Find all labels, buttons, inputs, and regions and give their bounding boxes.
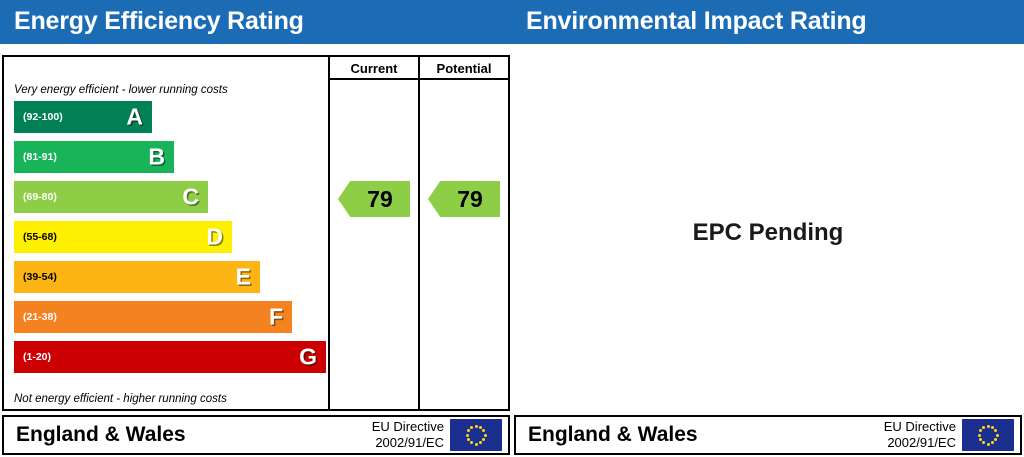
footer-region-left: England & Wales — [16, 423, 186, 447]
column-divider-current — [328, 57, 330, 409]
column-divider-potential — [418, 57, 420, 409]
rating-band-d: (55-68) D — [14, 221, 232, 253]
potential-rating-value: 79 — [445, 186, 483, 213]
header-row-divider — [328, 78, 508, 80]
eu-flag-icon — [450, 419, 502, 451]
rating-band-g-letter: G — [299, 346, 317, 369]
rating-band-b: (81-91) B — [14, 141, 174, 173]
rating-band-a-letter: A — [126, 106, 143, 129]
footer-directive-left-line2: 2002/91/EC — [372, 435, 444, 451]
rating-band-d-range: (55-68) — [23, 231, 57, 243]
rating-band-c: (69-80) C — [14, 181, 208, 213]
footer-region-right: England & Wales — [528, 423, 698, 447]
potential-rating-arrow: 79 — [428, 181, 500, 217]
current-rating-arrow: 79 — [338, 181, 410, 217]
column-header-current: Current — [330, 59, 418, 78]
rating-band-e-range: (39-54) — [23, 271, 57, 283]
rating-band-f: (21-38) F — [14, 301, 292, 333]
environmental-impact-footer: England & Wales EU Directive 2002/91/EC — [514, 415, 1022, 455]
environmental-impact-title-bar: Environmental Impact Rating — [512, 0, 1024, 44]
column-header-potential: Potential — [420, 59, 508, 78]
footer-directive-left: EU Directive 2002/91/EC — [372, 419, 444, 452]
current-rating-value: 79 — [355, 186, 393, 213]
rating-band-c-range: (69-80) — [23, 191, 57, 203]
environmental-impact-title: Environmental Impact Rating — [526, 7, 867, 36]
rating-band-a-range: (92-100) — [23, 111, 63, 123]
energy-efficiency-title: Energy Efficiency Rating — [14, 7, 304, 36]
rating-band-b-range: (81-91) — [23, 151, 57, 163]
energy-efficiency-panel: Energy Efficiency Rating Current Potenti… — [0, 0, 512, 457]
footer-directive-right-line1: EU Directive — [884, 419, 956, 435]
energy-efficiency-chart: Current Potential Very energy efficient … — [2, 55, 510, 411]
epc-certificate-graphic: Energy Efficiency Rating Current Potenti… — [0, 0, 1024, 457]
rating-band-g: (1-20) G — [14, 341, 326, 373]
rating-band-f-range: (21-38) — [23, 311, 57, 323]
environmental-impact-panel: Environmental Impact Rating EPC Pending … — [512, 0, 1024, 457]
rating-band-f-letter: F — [269, 306, 283, 329]
energy-efficiency-title-bar: Energy Efficiency Rating — [0, 0, 512, 44]
rating-band-e-letter: E — [236, 266, 251, 289]
caption-very-efficient: Very energy efficient - lower running co… — [14, 84, 228, 96]
epc-pending-message: EPC Pending — [514, 55, 1022, 411]
footer-directive-right-line2: 2002/91/EC — [884, 435, 956, 451]
rating-band-g-range: (1-20) — [23, 351, 51, 363]
eu-flag-icon — [962, 419, 1014, 451]
rating-band-a: (92-100) A — [14, 101, 152, 133]
footer-directive-right: EU Directive 2002/91/EC — [884, 419, 956, 452]
caption-not-efficient: Not energy efficient - higher running co… — [14, 393, 227, 405]
rating-band-b-letter: B — [148, 146, 165, 169]
footer-directive-left-line1: EU Directive — [372, 419, 444, 435]
energy-efficiency-footer: England & Wales EU Directive 2002/91/EC — [2, 415, 510, 455]
rating-band-d-letter: D — [206, 226, 223, 249]
rating-band-e: (39-54) E — [14, 261, 260, 293]
rating-band-c-letter: C — [182, 186, 199, 209]
